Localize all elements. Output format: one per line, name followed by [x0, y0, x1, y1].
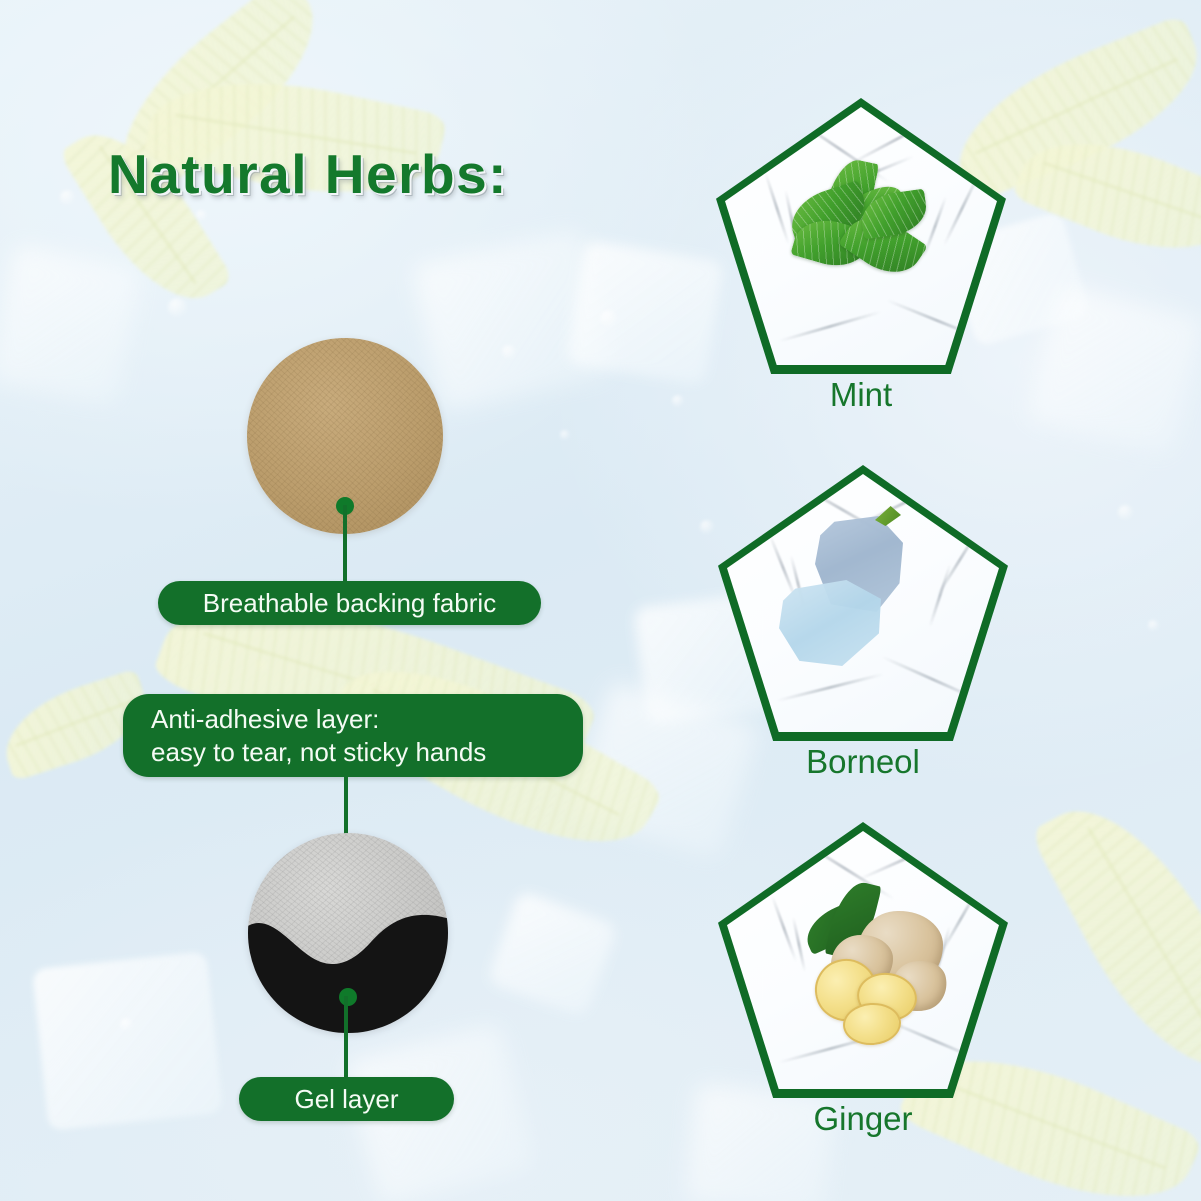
herb-label-mint-text: Mint: [830, 376, 892, 413]
ice-cube-decoration: [566, 240, 724, 385]
herb-card-borneol[interactable]: Borneol: [718, 465, 1008, 741]
water-droplet-decoration: [700, 520, 714, 534]
herb-card-ginger[interactable]: Ginger: [718, 822, 1008, 1098]
ice-cube-decoration: [32, 951, 223, 1130]
ice-streak: [881, 655, 985, 703]
ice-streak: [943, 171, 982, 246]
label-anti-adhesive-line2: easy to tear, not sticky hands: [151, 736, 583, 769]
connector-line-gel-layer: [344, 996, 348, 1080]
label-backing-fabric-text: Breathable backing fabric: [203, 587, 496, 620]
ice-streak: [928, 564, 951, 628]
water-droplet-decoration: [672, 395, 684, 407]
water-droplet-decoration: [60, 190, 75, 205]
label-gel-layer-text: Gel layer: [294, 1083, 398, 1116]
pentagon-interior-mint: [725, 107, 997, 365]
gel-layer-black-wave: [248, 893, 448, 1033]
water-droplet-decoration: [1148, 620, 1159, 631]
water-droplet-decoration: [168, 298, 187, 317]
water-droplet-decoration: [600, 310, 617, 327]
pentagon-interior-ginger: [727, 831, 999, 1089]
water-droplet-decoration: [502, 345, 516, 359]
herb-label-borneol-text: Borneol: [806, 743, 920, 780]
ice-streak: [886, 299, 987, 342]
page-title: Natural Herbs:: [108, 142, 508, 206]
herb-label-mint: Mint: [716, 376, 1006, 414]
herb-label-borneol: Borneol: [718, 743, 1008, 781]
pentagon-frame-mint: [716, 98, 1006, 374]
label-anti-adhesive-line1: Anti-adhesive layer:: [151, 703, 583, 736]
connector-line-backing-fabric: [343, 505, 347, 585]
ice-streak: [779, 310, 882, 342]
pentagon-frame-borneol: [718, 465, 1008, 741]
mint-leaves-icon: [787, 165, 937, 295]
pentagon-interior-borneol: [727, 474, 999, 732]
herb-label-ginger-text: Ginger: [813, 1100, 912, 1137]
label-backing-fabric[interactable]: Breathable backing fabric: [158, 581, 541, 625]
water-droplet-decoration: [1118, 505, 1133, 520]
ginger-root-icon: [779, 873, 955, 1051]
water-droplet-decoration: [560, 430, 570, 440]
connector-dot-gel-layer: [339, 988, 357, 1006]
herb-card-mint[interactable]: Mint: [716, 98, 1006, 374]
ice-streak: [849, 111, 948, 165]
product-infographic: Natural Herbs: Breathable backing fabric…: [0, 0, 1201, 1201]
label-anti-adhesive[interactable]: Anti-adhesive layer: easy to tear, not s…: [123, 694, 583, 777]
water-droplet-decoration: [120, 1018, 133, 1031]
ice-streak: [776, 673, 883, 703]
pentagon-frame-ginger: [718, 822, 1008, 1098]
water-droplet-decoration: [196, 210, 207, 221]
herb-label-ginger: Ginger: [718, 1100, 1008, 1138]
borneol-crystal-lower: [779, 580, 881, 666]
label-gel-layer[interactable]: Gel layer: [239, 1077, 454, 1121]
